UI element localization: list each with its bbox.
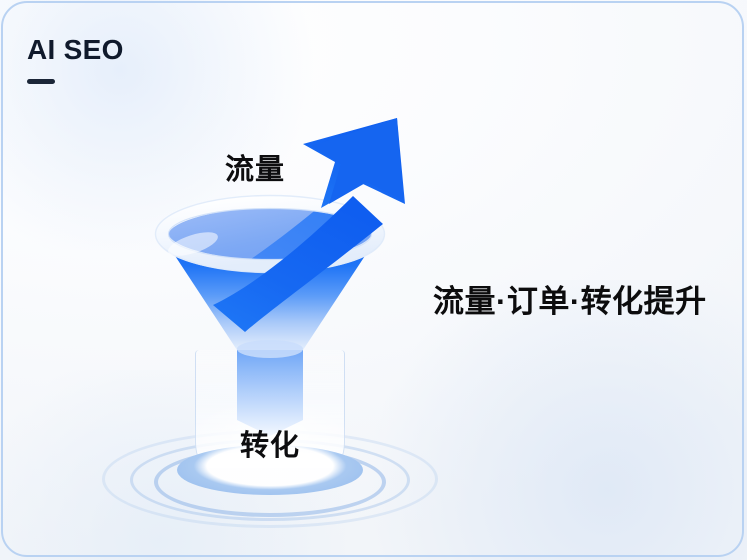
page-title: AI SEO [27, 34, 124, 66]
tagline-text: 流量·订单·转化提升 [433, 276, 707, 321]
label-traffic: 流量 [225, 146, 285, 188]
poster-canvas: AI SEO 流量·订单·转化提升 [0, 0, 747, 560]
label-conversion: 转化 [240, 422, 300, 464]
funnel-illustration: 流量 转化 [105, 100, 435, 520]
title-underline-rule [27, 79, 55, 84]
brand-block: AI SEO [27, 34, 124, 84]
